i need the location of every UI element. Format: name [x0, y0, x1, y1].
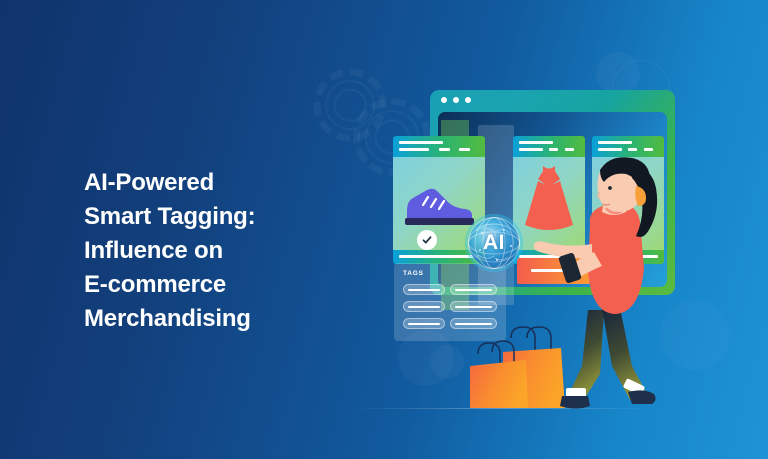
window-dot-close-icon	[441, 97, 447, 103]
tag-pill[interactable]	[450, 318, 497, 329]
verified-check-badge	[417, 230, 437, 250]
tags-panel-title: TAGS	[403, 270, 424, 277]
ai-orb-label: AI	[464, 213, 524, 273]
product-card-header	[393, 136, 485, 157]
sock-back	[566, 388, 586, 397]
eye	[608, 186, 612, 190]
product-card-header	[513, 136, 585, 157]
hero-illustration: TAGS	[0, 0, 768, 459]
tag-pill[interactable]	[450, 284, 497, 295]
check-icon	[421, 234, 433, 246]
product-card-header	[592, 136, 664, 157]
window-dot-maximize-icon	[465, 97, 471, 103]
hero-banner: AI-Powered Smart Tagging: Influence on E…	[0, 0, 768, 459]
shoe-front	[628, 390, 656, 404]
tag-pill[interactable]	[403, 284, 445, 295]
shopping-bag-front	[466, 348, 532, 412]
ai-orb: AI	[464, 213, 524, 273]
window-dot-minimize-icon	[453, 97, 459, 103]
leg-back	[568, 310, 604, 396]
shoe-back	[560, 396, 590, 409]
shopper-figure	[540, 160, 690, 420]
tag-pill[interactable]	[403, 318, 445, 329]
tag-pill[interactable]	[403, 301, 445, 312]
browser-title-bar	[430, 90, 675, 110]
tag-pill[interactable]	[450, 301, 497, 312]
tags-panel: TAGS	[394, 263, 506, 341]
